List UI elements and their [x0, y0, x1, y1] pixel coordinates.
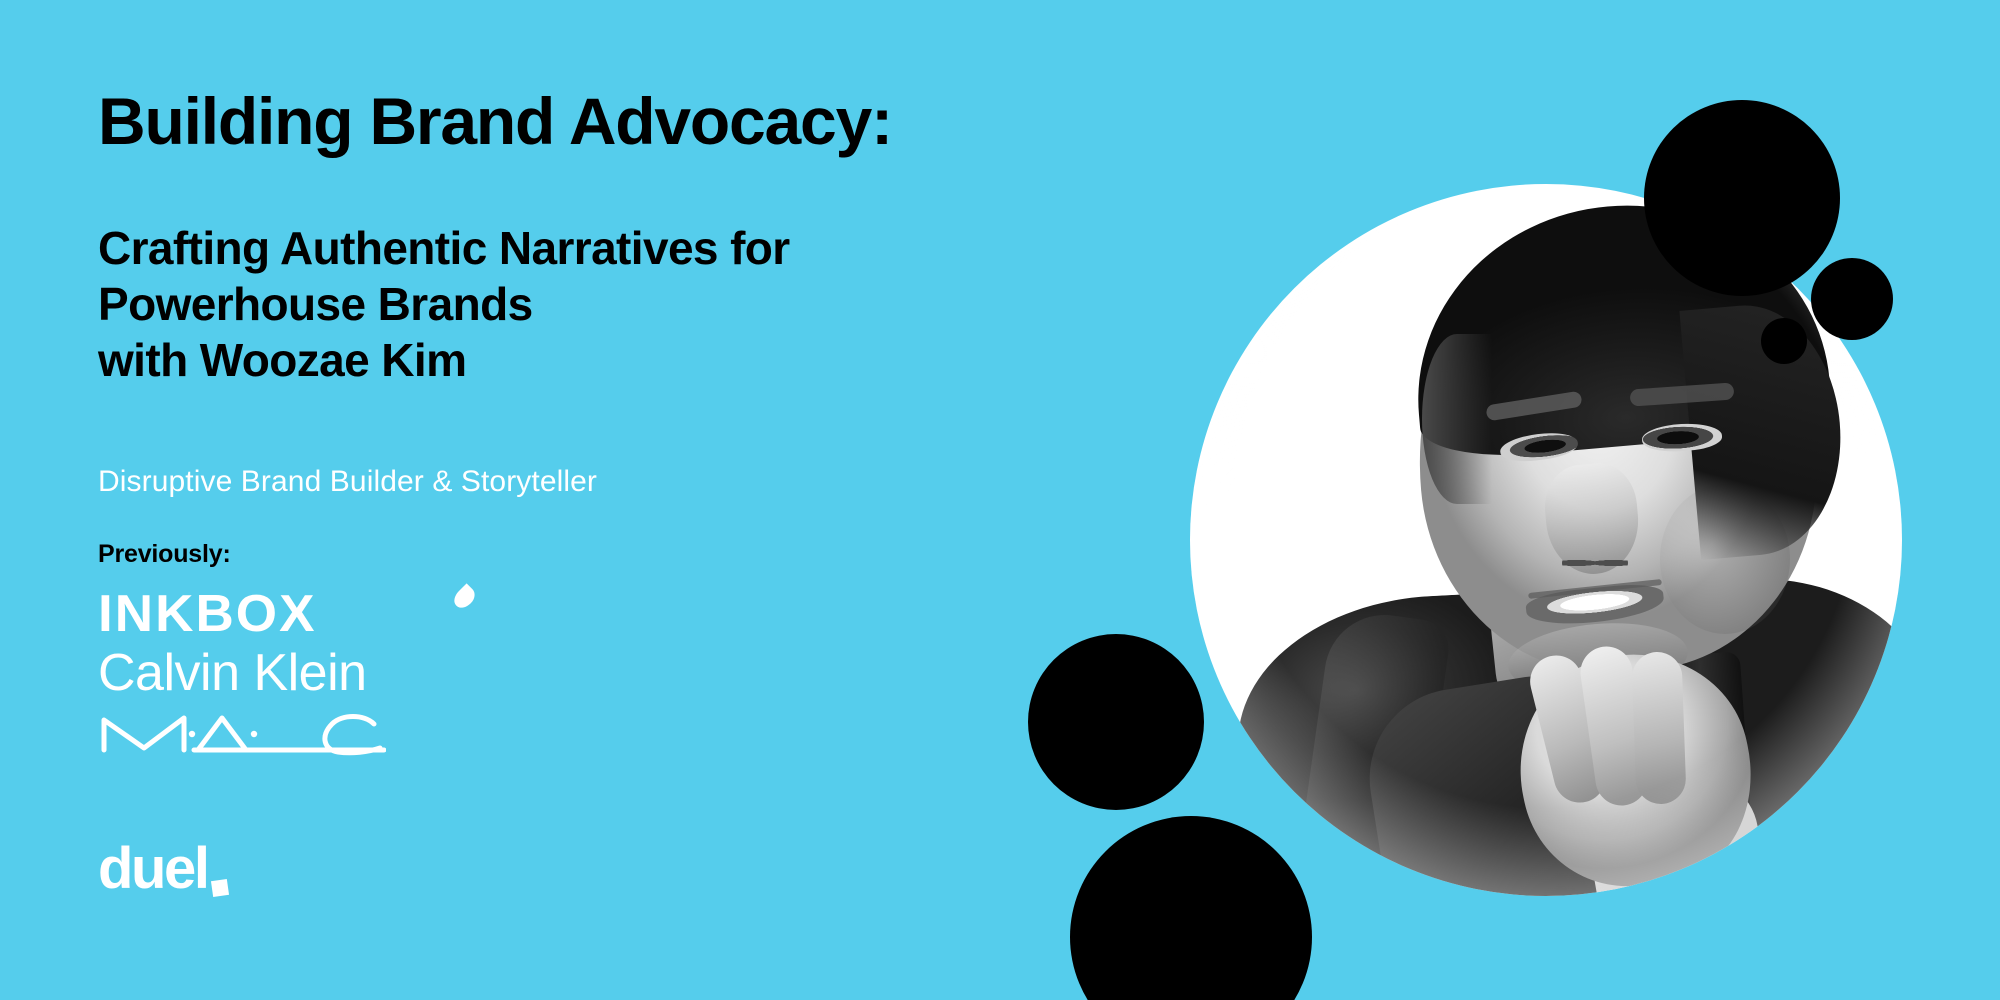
page-subtitle: Crafting Authentic Narratives for Powerh… [98, 220, 790, 388]
mac-wordmark-icon [98, 710, 386, 756]
brand-logo-mac [98, 710, 386, 756]
brand-logo-inkbox: INKBOX [98, 588, 518, 642]
previous-brand-logos: INKBOX Calvin Klein [98, 588, 518, 756]
speaker-portrait-photo [1190, 184, 1902, 896]
page-title: Building Brand Advocacy: [98, 88, 892, 154]
duel-logo-dot [211, 879, 229, 897]
page-subtitle-line-2: Powerhouse Brands [98, 276, 790, 332]
brand-logo-calvin-klein: Calvin Klein [98, 646, 518, 702]
speaker-portrait [1190, 184, 1902, 896]
decorative-circle-medium [1811, 258, 1893, 340]
duel-logo-wordmark: duel [98, 840, 208, 898]
portrait-vignette [1190, 184, 1902, 896]
speaker-tagline: Disruptive Brand Builder & Storyteller [98, 465, 597, 499]
decorative-circle-large [1644, 100, 1840, 296]
page-subtitle-line-1: Crafting Authentic Narratives for [98, 220, 790, 276]
duel-logo: duel [98, 840, 228, 898]
decorative-circle-small [1761, 318, 1807, 364]
page-subtitle-line-3: with Woozae Kim [98, 332, 790, 388]
previously-label: Previously: [98, 540, 231, 569]
ink-drop-icon [450, 583, 478, 611]
brand-logo-inkbox-wordmark: INKBOX [98, 588, 317, 640]
promo-banner: Building Brand Advocacy: Crafting Authen… [0, 0, 2000, 1000]
banner-content: Building Brand Advocacy: Crafting Authen… [98, 0, 1118, 1000]
